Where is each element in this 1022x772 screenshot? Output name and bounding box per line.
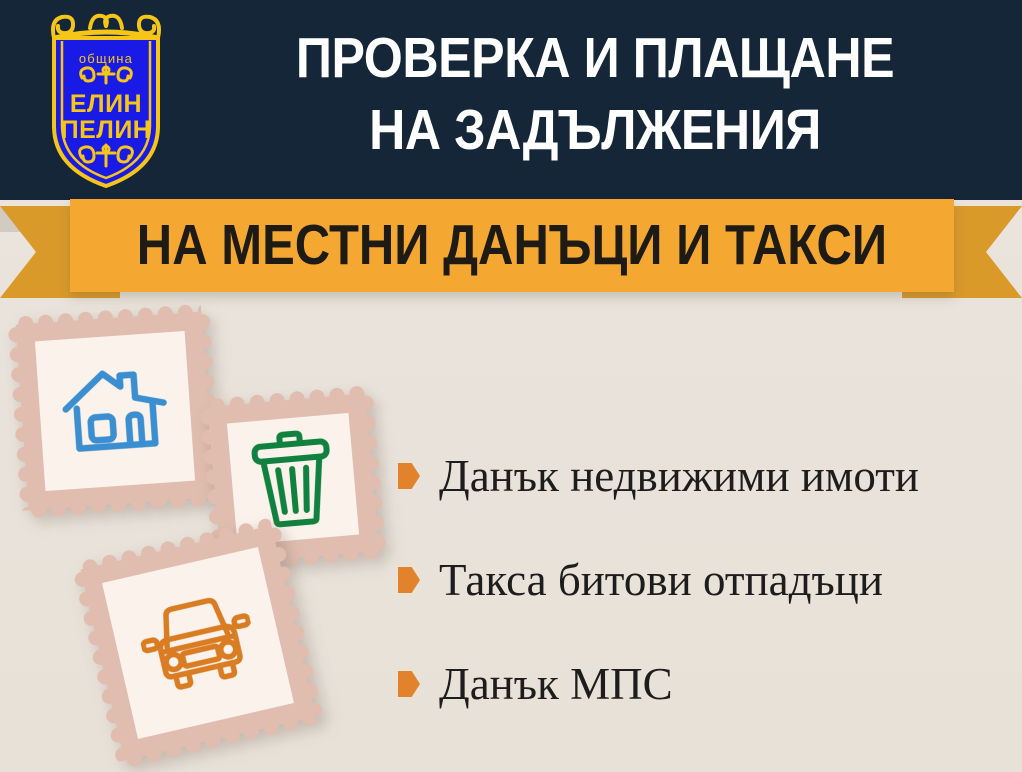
header-banner: община ЕЛИН ПЕЛИН ПРОВЕРКА И ПЛАЩАНЕ НА … [0, 0, 1022, 200]
list-item-label: Такса битови отпадъци [439, 555, 883, 605]
header-title-line2: НА ЗАДЪЛЖЕНИЯ [234, 94, 956, 166]
svg-text:ЕЛИН: ЕЛИН [70, 90, 142, 118]
list-item[interactable]: Данък недвижими имоти [398, 424, 1008, 528]
trash-bin-icon [245, 427, 341, 530]
list-item[interactable]: Такса битови отпадъци [398, 528, 1008, 632]
header-title: ПРОВЕРКА И ПЛАЩАНЕ НА ЗАДЪЛЖЕНИЯ [234, 22, 956, 166]
stamp-edge-right [358, 393, 387, 552]
list-item-label: Данък МПС [439, 659, 673, 709]
list-item-label: Данък недвижими имоти [439, 451, 919, 501]
stamp-edge-bottom [28, 490, 215, 518]
bullet-arrow-icon [398, 463, 420, 489]
bullet-arrow-icon [398, 567, 420, 593]
municipality-logo: община ЕЛИН ПЕЛИН [32, 8, 180, 192]
stamp-inner-house [35, 331, 195, 491]
header-title-line1: ПРОВЕРКА И ПЛАЩАНЕ [296, 26, 894, 90]
stamp-edge-left [8, 324, 36, 511]
house-icon [57, 360, 173, 462]
list-item[interactable]: Данък МПС [398, 632, 1008, 736]
ribbon-banner: НА МЕСТНИ ДАНЪЦИ И ТАКСИ [70, 199, 954, 292]
stamp-edge-top [15, 304, 202, 332]
tax-types-list: Данък недвижими имоти Такса битови отпад… [398, 424, 1008, 736]
bullet-arrow-icon [398, 671, 420, 697]
stamp-card-car [80, 525, 315, 760]
ribbon-text: НА МЕСТНИ ДАНЪЦИ И ТАКСИ [132, 213, 892, 277]
car-icon [133, 587, 262, 700]
poster-canvas: община ЕЛИН ПЕЛИН ПРОВЕРКА И ПЛАЩАНЕ НА … [0, 0, 1022, 772]
stamp-inner-car [102, 547, 294, 739]
stamp-edge-top [207, 385, 366, 414]
svg-text:ПЕЛИН: ПЕЛИН [61, 116, 152, 144]
stamp-card-house [16, 312, 215, 511]
svg-text:община: община [79, 51, 133, 66]
